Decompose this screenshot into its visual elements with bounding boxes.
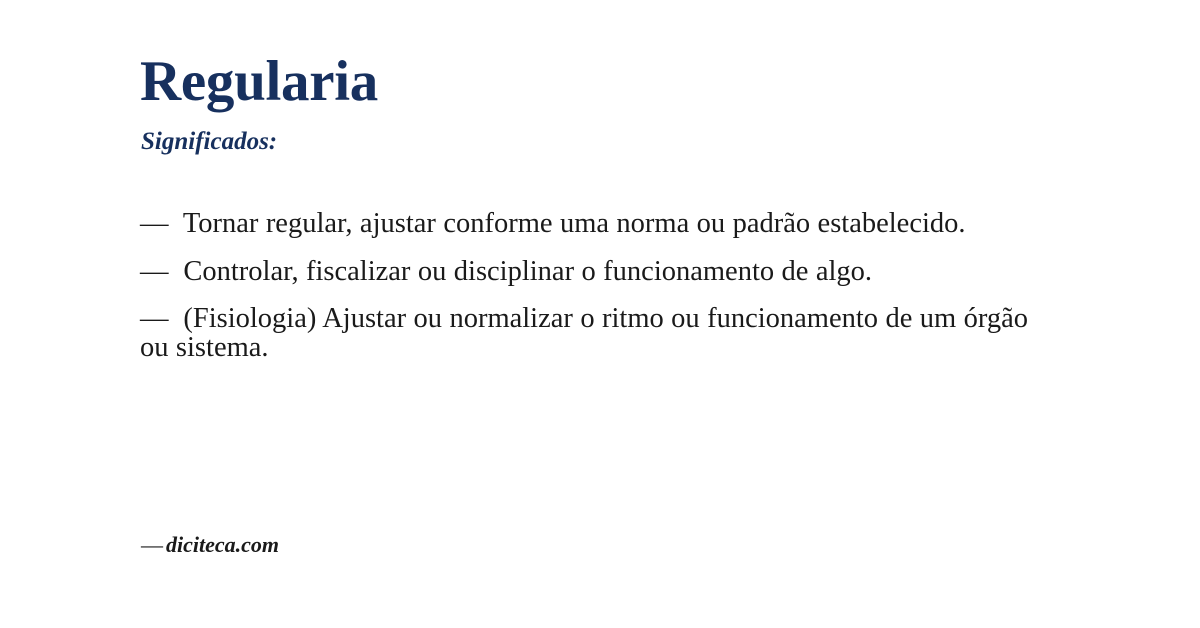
list-item: — (Fisiologia) Ajustar ou normalizar o r… xyxy=(140,305,1030,362)
page-title: Regularia xyxy=(140,52,378,112)
definition-card: Regularia Significados: — Tornar regular… xyxy=(0,0,1200,628)
list-item: — Controlar, fiscalizar ou disciplinar o… xyxy=(140,258,1030,287)
footer-dash-marker: — xyxy=(141,532,163,557)
em-dash-marker: — xyxy=(140,303,169,334)
definitions-list: — Tornar regular, ajustar conforme uma n… xyxy=(140,210,1030,362)
source-attribution: —diciteca.com xyxy=(141,532,279,558)
subtitle-label: Significados: xyxy=(141,128,277,157)
definition-text: Controlar, fiscalizar ou disciplinar o f… xyxy=(183,256,872,287)
list-item: — Tornar regular, ajustar conforme uma n… xyxy=(140,210,1030,239)
em-dash-marker: — xyxy=(140,208,169,239)
definition-text: (Fisiologia) Ajustar ou normalizar o rit… xyxy=(140,303,1028,363)
source-domain: diciteca.com xyxy=(166,532,279,557)
definition-text: Tornar regular, ajustar conforme uma nor… xyxy=(183,208,966,239)
em-dash-marker: — xyxy=(140,256,169,287)
